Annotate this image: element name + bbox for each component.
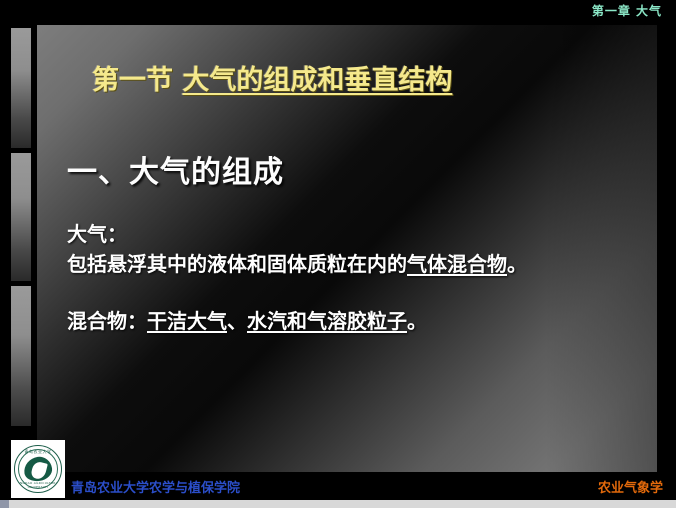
chapter-label: 第一章 大气 [592,2,662,19]
university-logo: 青岛农业大学 QINGDAO AGRICULTURAL UNIVERSITY [11,440,65,498]
section-heading: 一、大气的组成 [67,147,284,191]
seal-bottom-text: QINGDAO AGRICULTURAL UNIVERSITY [15,481,61,489]
components-period: 。 [407,309,427,333]
body-line-definition-label: 大气： [67,218,127,247]
definition-text-period: 。 [507,252,527,276]
decorative-side-bar-3 [11,286,31,426]
slide-content-panel: 第一节 大气的组成和垂直结构 一、大气的组成 大气： 包括悬浮其中的液体和固体质… [37,25,657,472]
presentation-slide: 第一章 大气 第一节 大气的组成和垂直结构 一、大气的组成 大气： 包括悬浮其中… [0,0,676,508]
slide-title-prefix: 第一节 [92,65,182,96]
decorative-side-bar-2 [11,153,31,281]
components-item-vapor-aerosol: 水汽和气溶胶粒子 [247,309,407,333]
footer-course-title: 农业气象学 [598,477,663,496]
definition-text-emphasis: 气体混合物 [407,252,507,276]
components-label: 混合物： [67,309,147,333]
footer-organization: 青岛农业大学农学与植保学院 [71,477,240,496]
components-item-dry-air: 干洁大气 [147,309,227,333]
components-separator: 、 [227,309,247,333]
body-line-components: 混合物：干洁大气、水汽和气溶胶粒子。 [67,305,427,334]
seal-top-text: 青岛农业大学 [15,449,61,455]
definition-text-plain: 包括悬浮其中的液体和固体质粒在内的 [67,252,407,276]
bottom-status-strip [0,500,676,508]
body-line-definition: 包括悬浮其中的液体和固体质粒在内的气体混合物。 [67,248,527,277]
slide-title-underlined: 大气的组成和垂直结构 [182,65,452,96]
bottom-strip-nub [0,500,9,508]
slide-title: 第一节 大气的组成和垂直结构 [92,58,452,97]
slide-content-inner: 第一节 大气的组成和垂直结构 一、大气的组成 大气： 包括悬浮其中的液体和固体质… [37,25,657,472]
university-seal-icon: 青岛农业大学 QINGDAO AGRICULTURAL UNIVERSITY [14,445,62,493]
decorative-side-bar-1 [11,28,31,148]
